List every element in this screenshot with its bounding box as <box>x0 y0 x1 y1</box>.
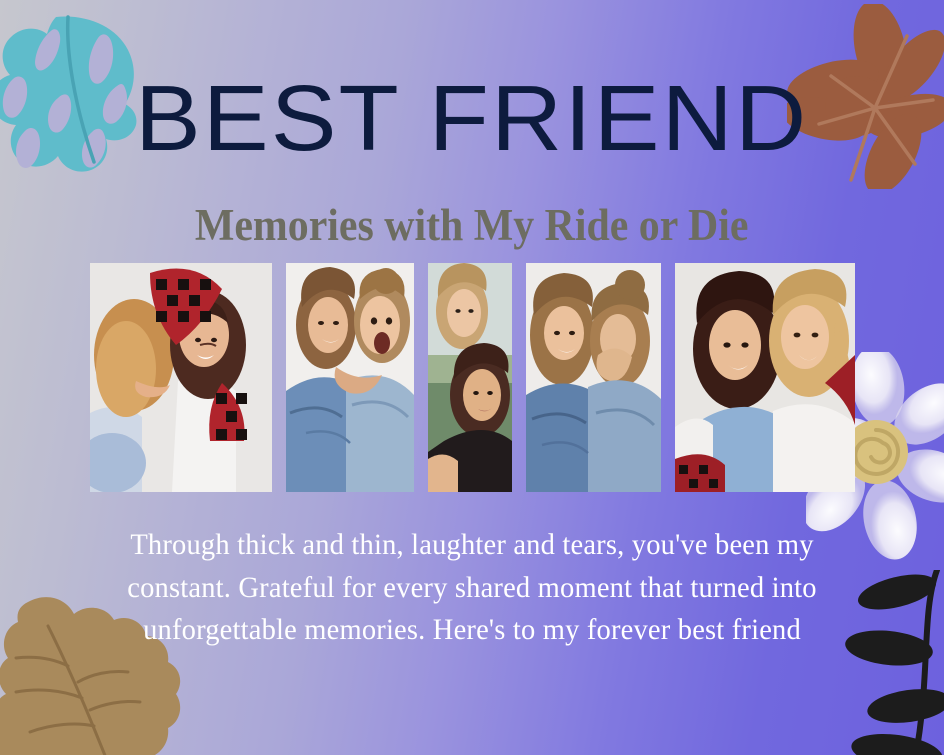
title-container: BEST FRIEND <box>0 72 944 165</box>
gallery-photo-2[interactable] <box>286 263 414 492</box>
gallery-photo-1[interactable] <box>90 263 272 492</box>
quote-text: Through thick and thin, laughter and tea… <box>81 524 864 652</box>
quote-container: Through thick and thin, laughter and tea… <box>60 524 884 652</box>
page-subtitle: Memories with My Ride or Die <box>195 202 749 249</box>
page-title: BEST FRIEND <box>135 72 808 165</box>
photo-gallery <box>90 263 855 492</box>
gallery-photo-5[interactable] <box>675 263 855 492</box>
gallery-photo-4[interactable] <box>526 263 661 492</box>
subtitle-container: Memories with My Ride or Die <box>0 202 944 249</box>
gallery-photo-3[interactable] <box>428 263 512 492</box>
